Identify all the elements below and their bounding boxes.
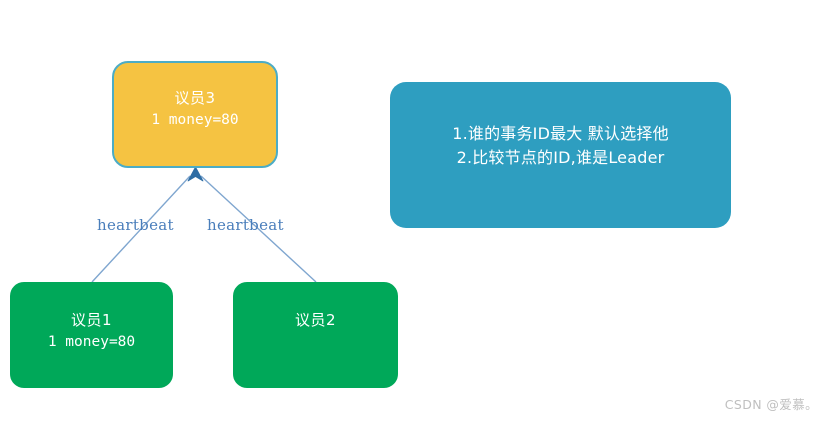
rule-line-2: 2.比较节点的ID,谁是Leader [457,146,665,170]
node-follower-1-detail: 1 money=80 [48,333,135,352]
node-follower-1[interactable]: 议员1 1 money=80 [10,282,173,388]
node-follower-2[interactable]: 议员2 [233,282,398,388]
rule-line-1: 1.谁的事务ID最大 默认选择他 [452,122,669,146]
edge-label-heartbeat-left: heartbeat [97,216,174,234]
edge-label-heartbeat-right: heartbeat [207,216,284,234]
heartbeat-arrowhead [188,167,203,181]
node-leader-detail: 1 money=80 [151,111,238,130]
node-follower-2-title: 议员2 [295,311,336,330]
leader-election-rules-box[interactable]: 1.谁的事务ID最大 默认选择他 2.比较节点的ID,谁是Leader [390,82,731,228]
node-leader[interactable]: 议员3 1 money=80 [112,61,278,168]
diagram-canvas: 议员3 1 money=80 1.谁的事务ID最大 默认选择他 2.比较节点的I… [0,0,830,423]
csdn-watermark: CSDN @爱慕。 [725,394,818,413]
node-follower-1-title: 议员1 [71,311,112,330]
node-leader-title: 议员3 [174,89,215,108]
